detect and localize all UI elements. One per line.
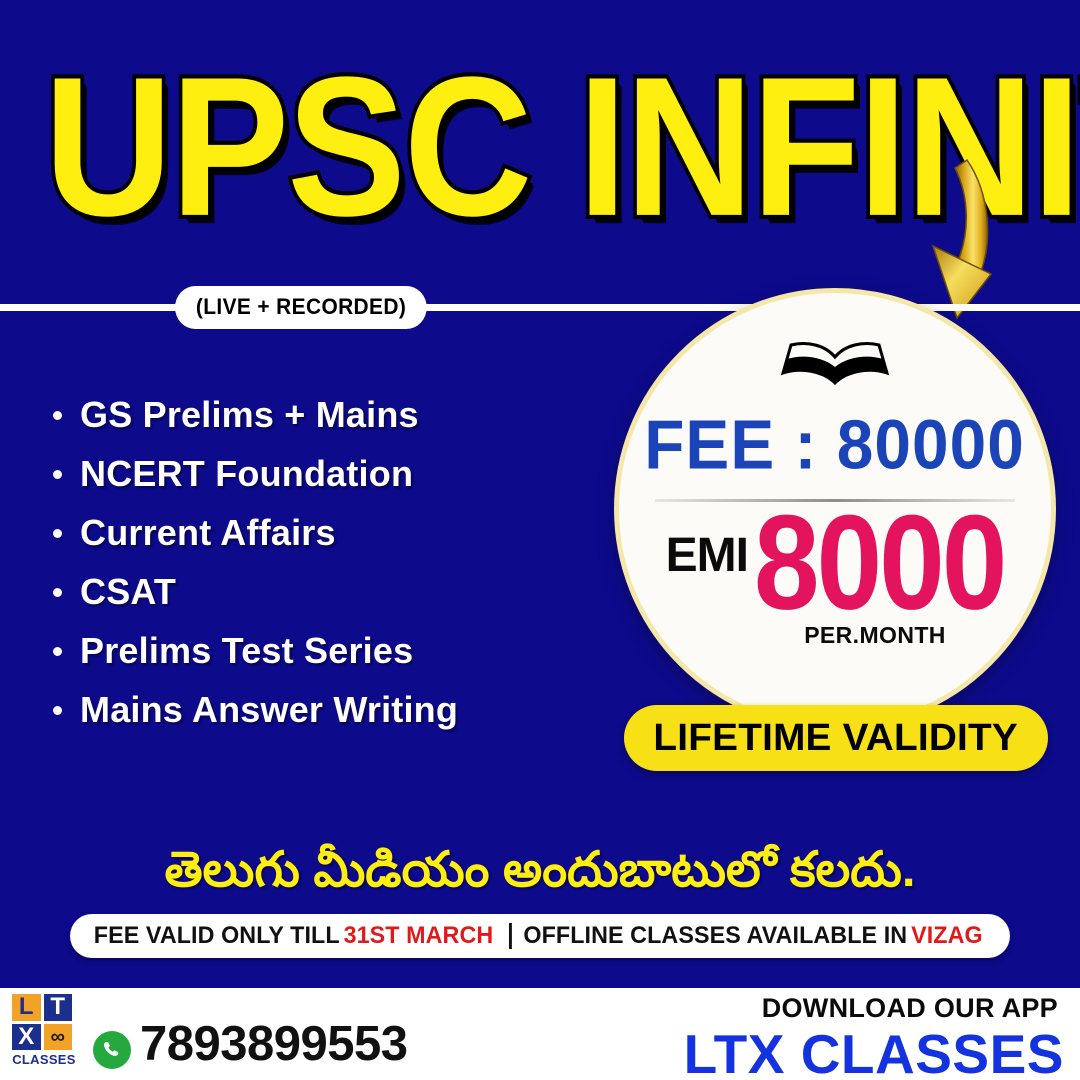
validity-date: 31ST MARCH xyxy=(343,922,493,950)
ltx-logo: L T X ∞ CLASSES xyxy=(12,994,76,1067)
offline-prefix: OFFLINE CLASSES AVAILABLE IN xyxy=(523,922,907,950)
list-item: Current Affairs xyxy=(40,503,600,562)
telugu-medium-note: తెలుగు మీడియం అందుబాటులో కలదు. xyxy=(0,842,1080,910)
list-item: Mains Answer Writing xyxy=(40,680,600,739)
list-item: CSAT xyxy=(40,562,600,621)
lifetime-validity-badge: LIFETIME VALIDITY xyxy=(624,705,1048,771)
whatsapp-icon[interactable] xyxy=(92,1030,132,1075)
logo-cell-infinity: ∞ xyxy=(44,1024,73,1051)
app-name: LTX CLASSES xyxy=(684,1022,1064,1080)
promo-poster: UPSC INFINITY xyxy=(0,0,1080,1080)
logo-cell-l: L xyxy=(12,994,41,1021)
emi-label: EMI xyxy=(666,528,748,583)
download-app-label: DOWNLOAD OUR APP xyxy=(762,993,1058,1024)
offline-city: VIZAG xyxy=(911,922,983,950)
lifetime-validity-label: LIFETIME VALIDITY xyxy=(654,717,1019,760)
fee-amount: FEE : 80000 xyxy=(645,406,1026,486)
validity-prefix: FEE VALID ONLY TILL xyxy=(94,922,340,950)
open-book-icon xyxy=(779,339,891,400)
phone-number[interactable]: 7893899553 xyxy=(140,1016,408,1072)
emi-row: EMI 8000 xyxy=(619,508,1051,618)
strip-separator xyxy=(509,923,512,949)
logo-cell-t: T xyxy=(44,994,73,1021)
list-item: Prelims Test Series xyxy=(40,621,600,680)
feature-list: GS Prelims + Mains NCERT Foundation Curr… xyxy=(40,385,600,739)
logo-cell-x: X xyxy=(12,1024,41,1051)
validity-strip: FEE VALID ONLY TILL 31ST MARCH OFFLINE C… xyxy=(70,914,1010,958)
page-title: UPSC INFINITY xyxy=(44,52,998,241)
price-circle: FEE : 80000 EMI 8000 PER.MONTH xyxy=(614,288,1056,730)
list-item: GS Prelims + Mains xyxy=(40,385,600,444)
poster-title-wrap: UPSC INFINITY xyxy=(44,52,944,212)
list-item: NCERT Foundation xyxy=(40,444,600,503)
mode-badge: (LIVE + RECORDED) xyxy=(175,286,427,329)
emi-amount: 8000 xyxy=(754,500,1005,625)
logo-caption: CLASSES xyxy=(12,1052,76,1067)
